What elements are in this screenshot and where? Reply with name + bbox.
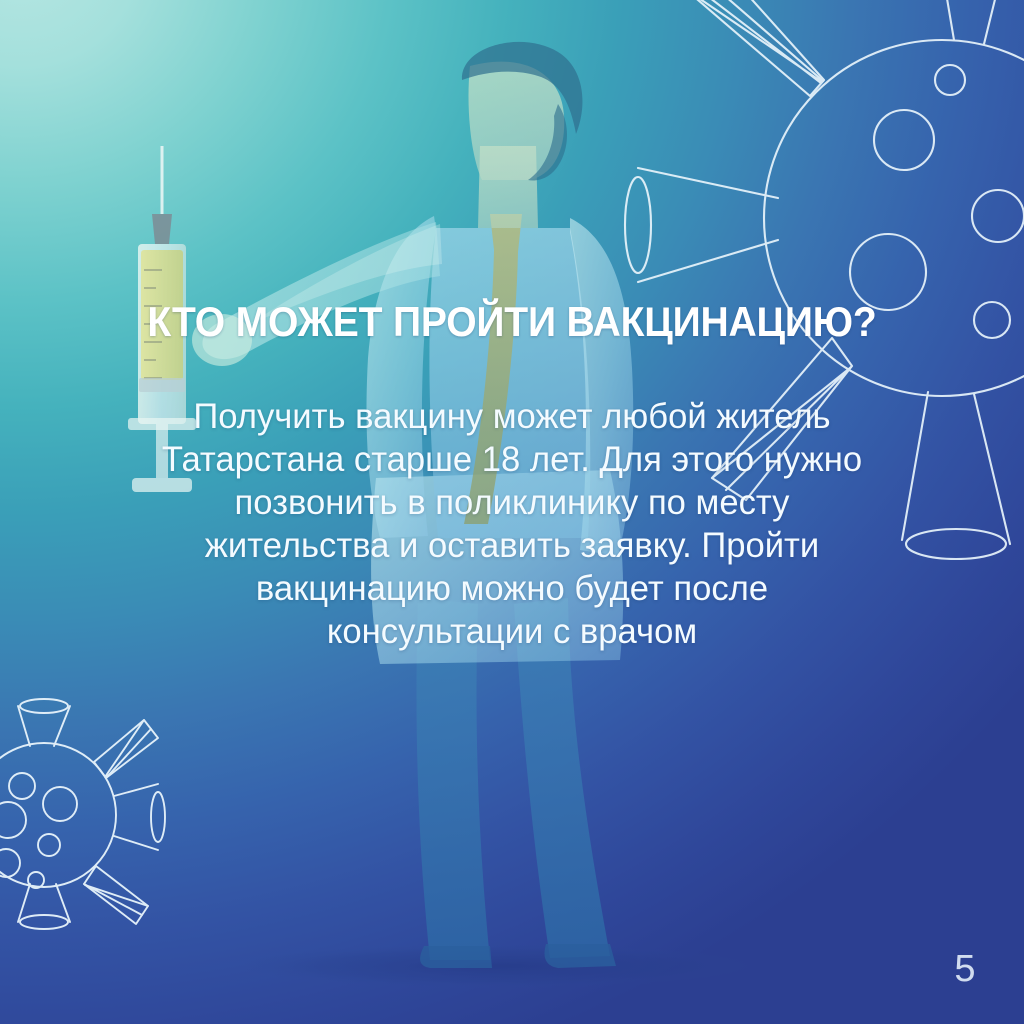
coronavirus-outline-small-icon [0,700,174,930]
body-line: вакцинацию можно будет после [106,567,917,610]
hair-sideburn [528,104,567,180]
body-line: позвонить в поликлинику по месту [106,481,917,524]
shoe-left [420,946,492,968]
neck [478,146,538,228]
page-number: 5 [954,950,976,988]
text-block: КТО МОЖЕТ ПРОЙТИ ВАКЦИНАЦИЮ? Получить ва… [0,300,1024,653]
page-title: КТО МОЖЕТ ПРОЙТИ ВАКЦИНАЦИЮ? [36,300,988,345]
hair [462,42,583,134]
body-line: Получить вакцину может любой житель [106,395,917,438]
body-line: Татарстана старше 18 лет. Для этого нужн… [106,438,917,481]
figure-shadow [240,944,756,988]
body-paragraph: Получить вакцину может любой житель Тата… [13,395,1011,653]
shoe-right [545,944,617,968]
head [469,62,565,180]
body-line: жительства и оставить заявку. Пройти [106,524,917,567]
slide-canvas: КТО МОЖЕТ ПРОЙТИ ВАКЦИНАЦИЮ? Получить ва… [0,0,1024,1024]
body-line: консультации с врачом [106,610,917,653]
